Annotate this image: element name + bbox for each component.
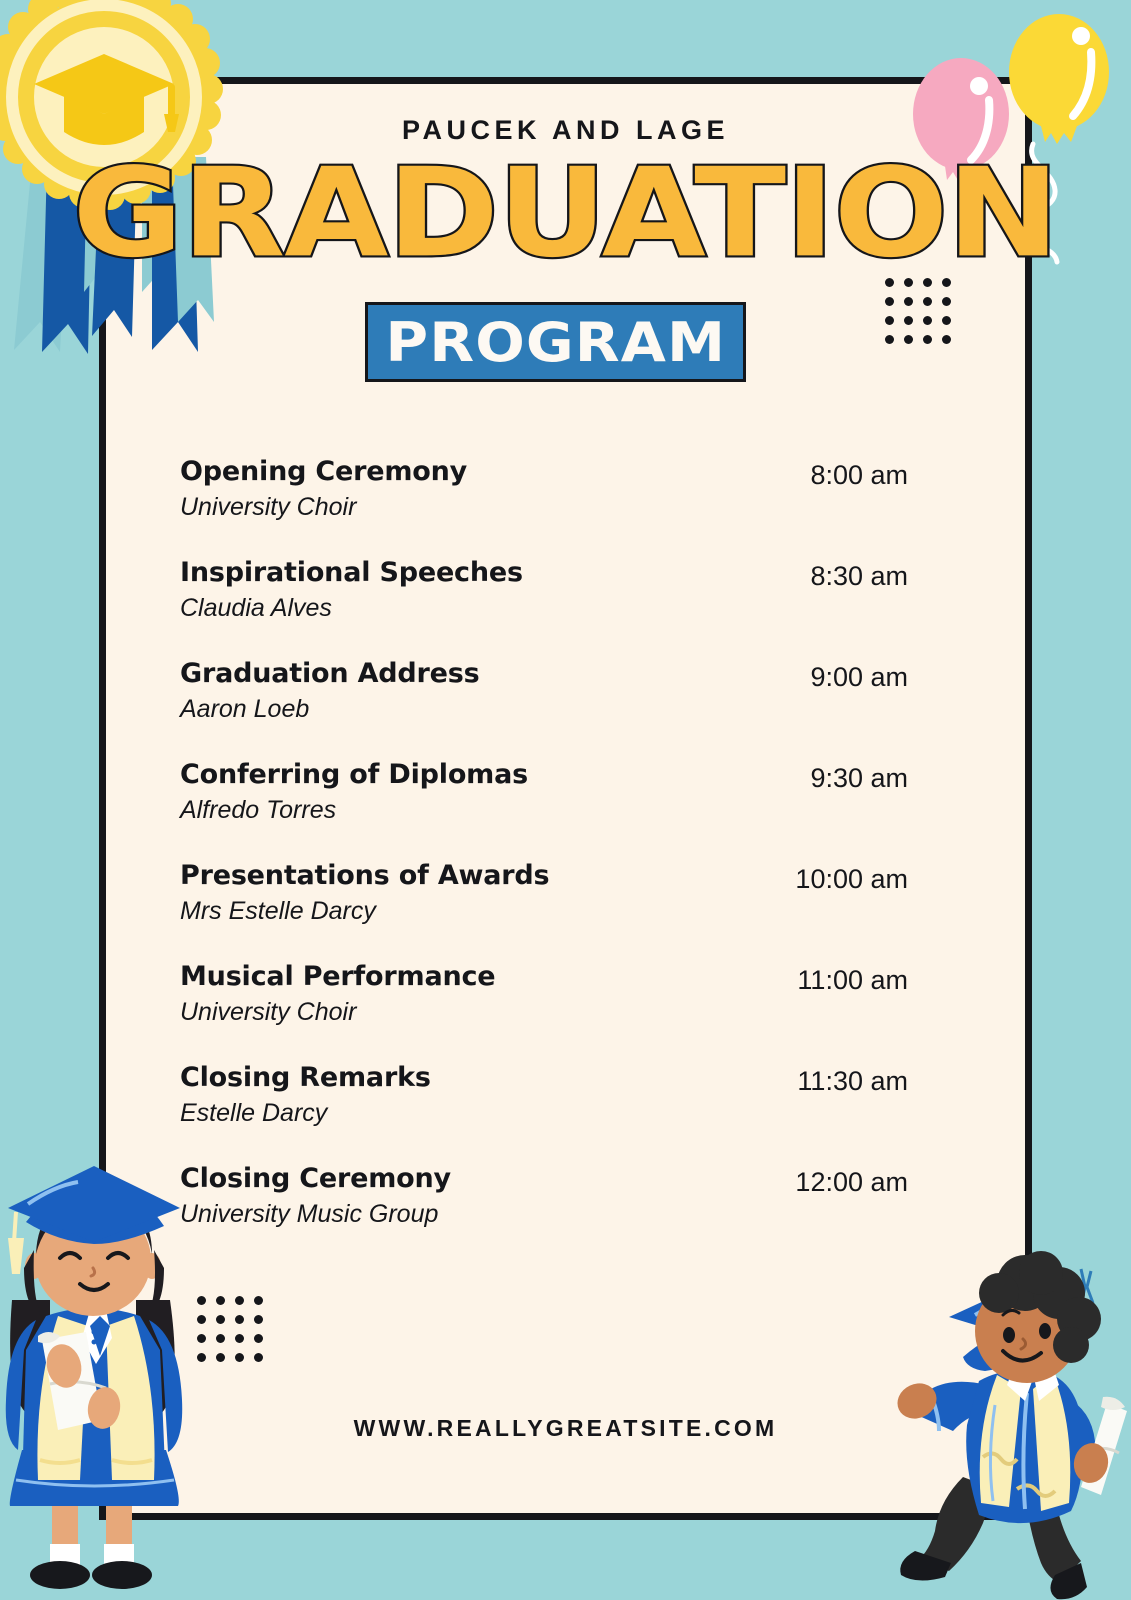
schedule-item-performer: Alfredo Torres xyxy=(180,792,528,828)
dot xyxy=(235,1296,244,1305)
dot xyxy=(904,335,913,344)
schedule-item-time: 9:00 am xyxy=(810,662,908,693)
schedule-item: Conferring of DiplomasAlfredo Torres9:30… xyxy=(180,758,908,859)
dot xyxy=(885,335,894,344)
schedule-item: Presentations of AwardsMrs Estelle Darcy… xyxy=(180,859,908,960)
schedule-item-performer: Aaron Loeb xyxy=(180,691,480,727)
schedule-item-title: Opening Ceremony xyxy=(180,455,467,489)
dot xyxy=(216,1296,225,1305)
schedule-item-text: Musical PerformanceUniversity Choir xyxy=(180,960,495,1030)
dot xyxy=(254,1353,263,1362)
dot xyxy=(216,1334,225,1343)
dot-grid-bottom-left-icon xyxy=(197,1296,263,1362)
dot xyxy=(904,278,913,287)
schedule-item-title: Graduation Address xyxy=(180,657,480,691)
schedule-item: Inspirational SpeechesClaudia Alves8:30 … xyxy=(180,556,908,657)
schedule-list: Opening CeremonyUniversity Choir8:00 amI… xyxy=(180,455,908,1263)
schedule-item-time: 11:00 am xyxy=(797,965,908,996)
dot xyxy=(942,316,951,325)
dot xyxy=(923,335,932,344)
dot xyxy=(197,1315,206,1324)
dot xyxy=(942,335,951,344)
dot xyxy=(923,278,932,287)
dot xyxy=(254,1334,263,1343)
schedule-item-text: Closing RemarksEstelle Darcy xyxy=(180,1061,431,1131)
schedule-item-text: Conferring of DiplomasAlfredo Torres xyxy=(180,758,528,828)
schedule-item-title: Musical Performance xyxy=(180,960,495,994)
schedule-item: Closing RemarksEstelle Darcy11:30 am xyxy=(180,1061,908,1162)
schedule-item-performer: Mrs Estelle Darcy xyxy=(180,893,549,929)
dot xyxy=(254,1296,263,1305)
program-banner: PROGRAM xyxy=(365,302,746,382)
schedule-item-performer: University Choir xyxy=(180,489,467,525)
dot xyxy=(254,1315,263,1324)
dot-grid-top-right-icon xyxy=(885,278,951,344)
dot xyxy=(942,297,951,306)
schedule-item-title: Conferring of Diplomas xyxy=(180,758,528,792)
schedule-item-time: 11:30 am xyxy=(797,1066,908,1097)
schedule-item-title: Closing Ceremony xyxy=(180,1162,451,1196)
website-url: WWW.REALLYGREATSITE.COM xyxy=(0,1415,1131,1442)
schedule-item-title: Closing Remarks xyxy=(180,1061,431,1095)
schedule-item-text: Opening CeremonyUniversity Choir xyxy=(180,455,467,525)
dot xyxy=(235,1315,244,1324)
schedule-item: Musical PerformanceUniversity Choir11:00… xyxy=(180,960,908,1061)
schedule-item-time: 9:30 am xyxy=(810,763,908,794)
schedule-item-performer: Claudia Alves xyxy=(180,590,523,626)
dot xyxy=(885,316,894,325)
schedule-item-time: 8:00 am xyxy=(810,460,908,491)
page-title: GRADUATION xyxy=(0,151,1131,276)
dot xyxy=(904,297,913,306)
dot xyxy=(885,278,894,287)
schedule-item-text: Graduation AddressAaron Loeb xyxy=(180,657,480,727)
schedule-item-title: Presentations of Awards xyxy=(180,859,549,893)
dot xyxy=(885,297,894,306)
schedule-item-title: Inspirational Speeches xyxy=(180,556,523,590)
dot xyxy=(235,1334,244,1343)
schedule-item-time: 12:00 am xyxy=(795,1167,908,1198)
schedule-item-performer: Estelle Darcy xyxy=(180,1095,431,1131)
dot xyxy=(197,1353,206,1362)
schedule-item-performer: University Music Group xyxy=(180,1196,451,1232)
dot xyxy=(923,316,932,325)
dot xyxy=(923,297,932,306)
schedule-item-text: Closing CeremonyUniversity Music Group xyxy=(180,1162,451,1232)
schedule-item: Closing CeremonyUniversity Music Group12… xyxy=(180,1162,908,1263)
dot xyxy=(235,1353,244,1362)
schedule-item-time: 10:00 am xyxy=(795,864,908,895)
schedule-item-text: Inspirational SpeechesClaudia Alves xyxy=(180,556,523,626)
graduation-program-poster: PAUCEK AND LAGE GRADUATION PROGRAM Openi… xyxy=(0,0,1131,1600)
dot xyxy=(216,1315,225,1324)
dot xyxy=(904,316,913,325)
schedule-item-time: 8:30 am xyxy=(810,561,908,592)
schedule-item-text: Presentations of AwardsMrs Estelle Darcy xyxy=(180,859,549,929)
dot xyxy=(216,1353,225,1362)
dot xyxy=(942,278,951,287)
schedule-item-performer: University Choir xyxy=(180,994,495,1030)
dot xyxy=(197,1334,206,1343)
program-banner-label: PROGRAM xyxy=(385,311,726,374)
dot xyxy=(197,1296,206,1305)
schedule-item: Opening CeremonyUniversity Choir8:00 am xyxy=(180,455,908,556)
schedule-item: Graduation AddressAaron Loeb9:00 am xyxy=(180,657,908,758)
